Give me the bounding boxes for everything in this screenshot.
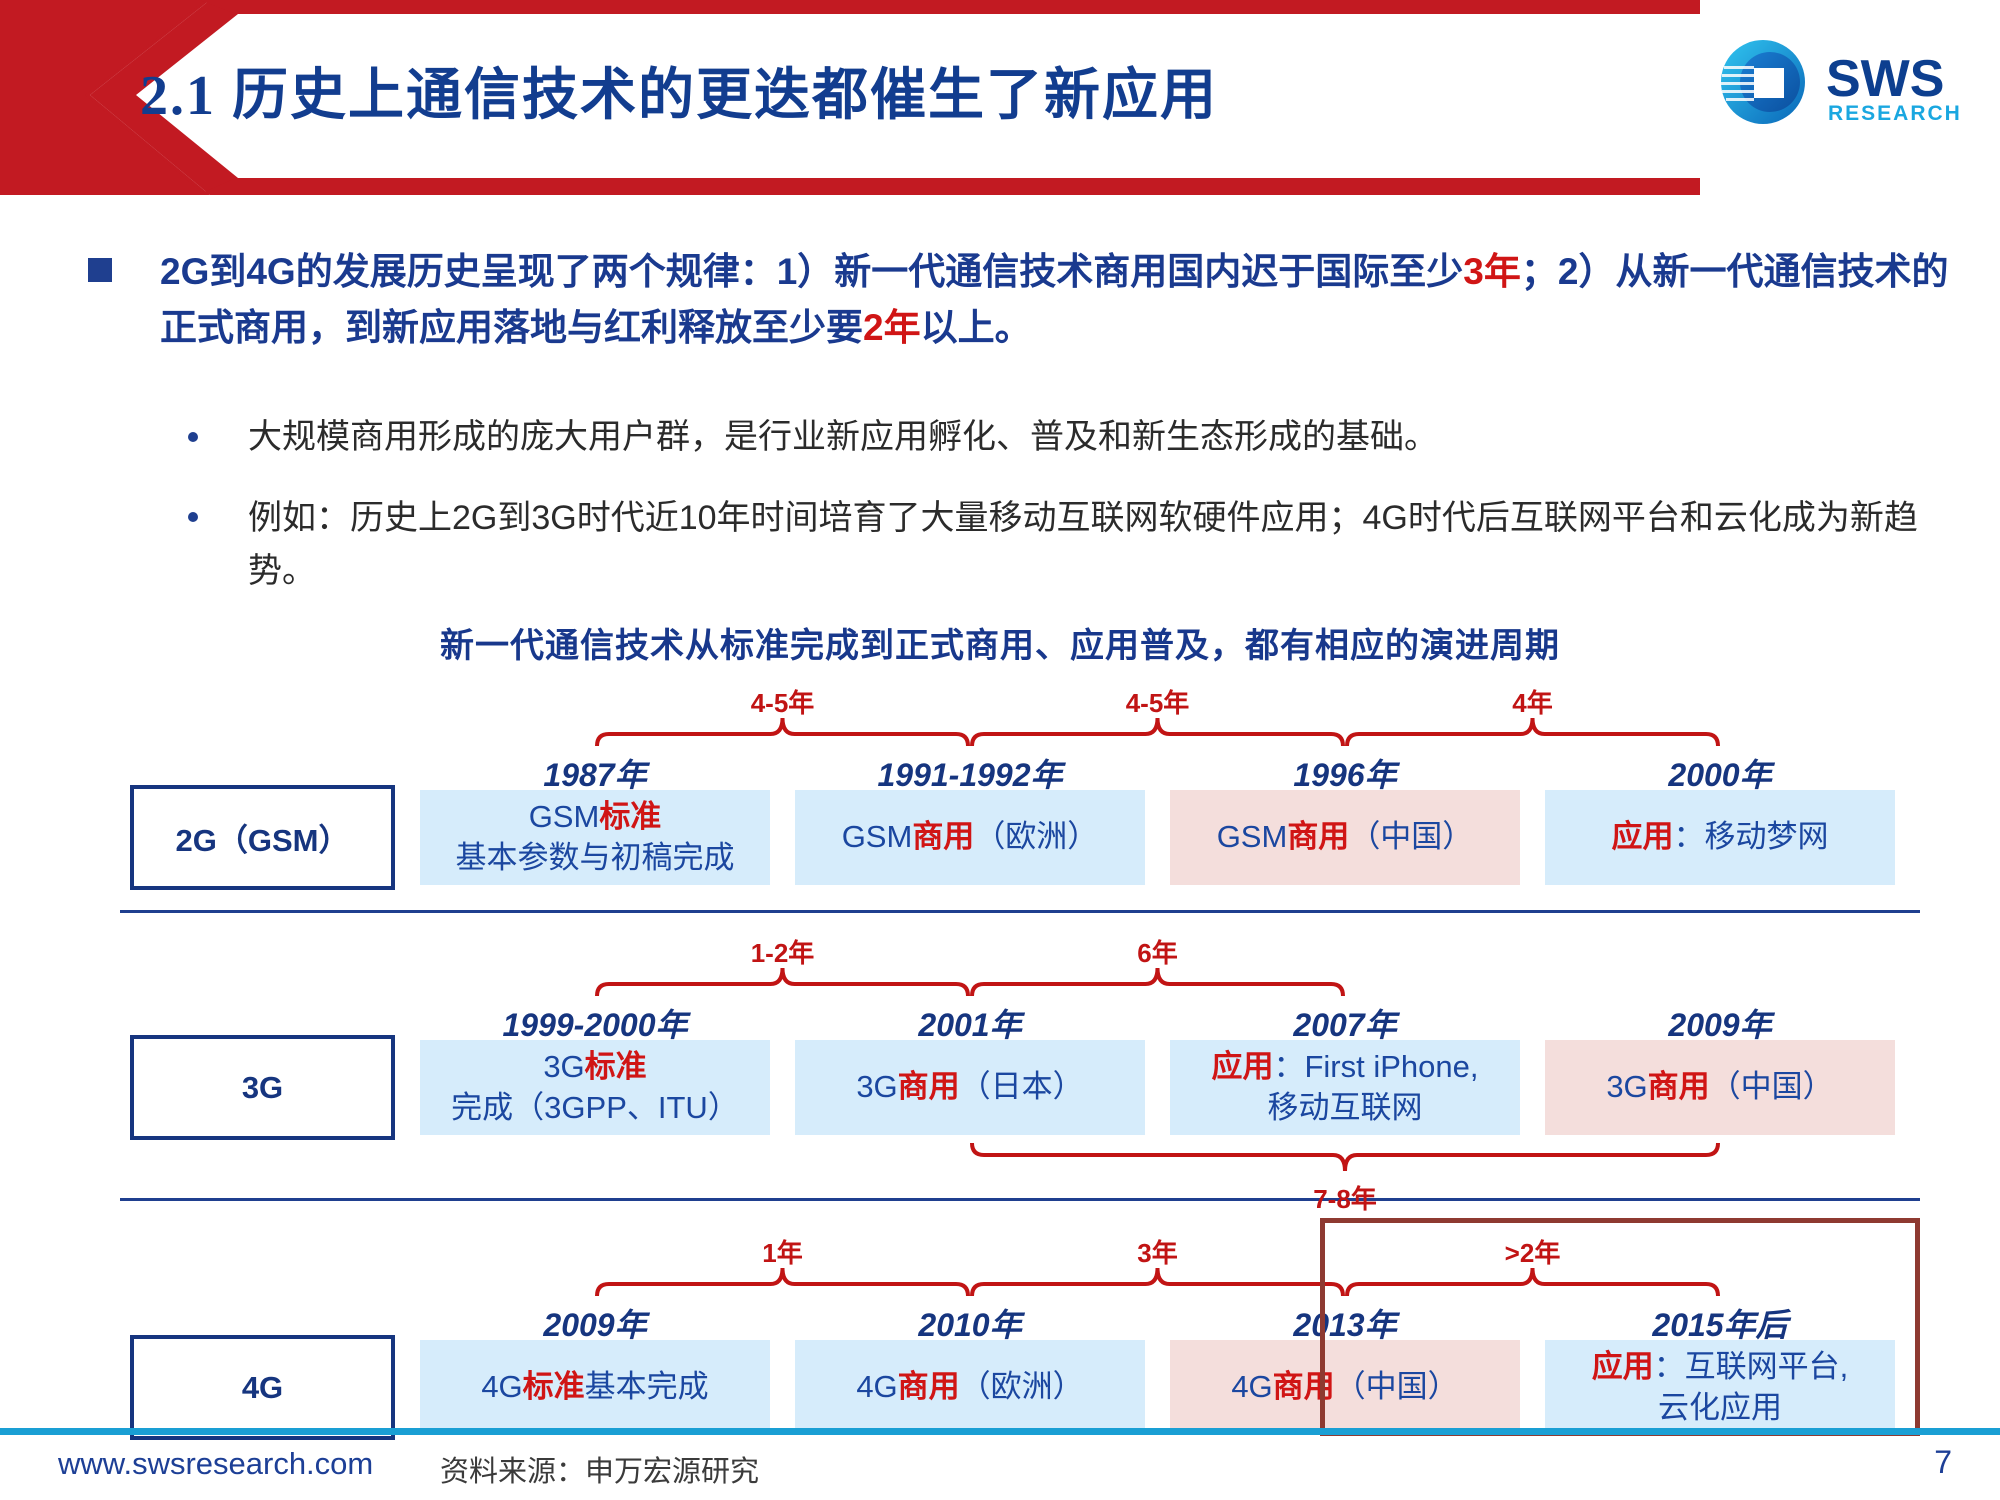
generation-box-2GGSM: 2G（GSM） (130, 785, 395, 890)
brace-connector (970, 716, 1345, 751)
cell-text-highlight: 标准 (523, 1369, 585, 1404)
cell-text-post: （欧洲） (974, 819, 1098, 854)
main-bullet-text: 2G到4G的发展历史呈现了两个规律：1）新一代通信技术商用国内迟于国际至少3年；… (160, 244, 1950, 356)
cell-text-highlight: 商用 (898, 1069, 960, 1104)
timeline-cell: GSM商用（中国） (1170, 790, 1520, 885)
timeline-cell: 4G标准基本完成 (420, 1340, 770, 1435)
timeline-cell: 3G商用（中国） (1545, 1040, 1895, 1135)
cell-text-post: ：移动梦网 (1674, 819, 1829, 854)
cell-text-highlight: 商用 (1287, 819, 1349, 854)
timeline-cell: GSM标准基本参数与初稿完成 (420, 790, 770, 885)
diagram-title: 新一代通信技术从标准完成到正式商用、应用普及，都有相应的演进周期 (0, 618, 2000, 667)
sub-bullet-dot-1 (188, 432, 198, 442)
cell-text-pre: GSM (842, 819, 913, 854)
brace-duration-label: 1-2年 (595, 933, 970, 970)
brace-duration-label: 4-5年 (970, 683, 1345, 720)
sws-research-logo: SWS RESEARCH (1718, 36, 1962, 128)
footer-url[interactable]: www.swsresearch.com (58, 1446, 373, 1482)
generation-box-4G: 4G (130, 1335, 395, 1440)
timeline-cell: GSM商用（欧洲） (795, 790, 1145, 885)
cell-text-line2: 完成（3GPP、ITU） (451, 1090, 739, 1125)
cell-text-pre: 4G (856, 1369, 897, 1404)
brace-connector (595, 716, 970, 751)
main-bullet-red-1: 3年 (1463, 251, 1521, 292)
bullet-marker-square (88, 258, 112, 282)
page-title: 2.1 历史上通信技术的更迭都催生了新应用 (140, 50, 1640, 131)
cell-text-pre: GSM (529, 799, 600, 834)
cell-content: 应用：移动梦网 (1612, 817, 1829, 858)
cell-content: GSM商用（欧洲） (842, 817, 1099, 858)
cell-text-post: 基本完成 (585, 1369, 709, 1404)
brace-connector (1345, 716, 1720, 751)
svg-text:SWS: SWS (1826, 50, 1944, 108)
page-number: 7 (1934, 1444, 1952, 1481)
cell-text-pre: 3G (856, 1069, 897, 1104)
cell-content: 4G标准基本完成 (481, 1367, 708, 1408)
brace-connector (595, 966, 970, 1001)
timeline-cell: 应用：移动梦网 (1545, 790, 1895, 885)
main-bullet-pre: 2G到4G的发展历史呈现了两个规律：1）新一代通信技术商用国内迟于国际至少 (160, 251, 1463, 292)
cell-text-post: ：First iPhone, (1273, 1049, 1478, 1084)
cell-content: GSM标准基本参数与初稿完成 (456, 797, 735, 879)
cell-text-highlight: 标准 (585, 1049, 647, 1084)
brace-duration-label: 1年 (595, 1233, 970, 1270)
cell-text-post: （中国） (1710, 1069, 1834, 1104)
footer-rule (0, 1428, 2000, 1435)
cell-text-highlight: 应用 (1612, 819, 1674, 854)
cell-content: 3G商用（中国） (1606, 1067, 1833, 1108)
cell-content: 4G商用（欧洲） (856, 1367, 1083, 1408)
brace-connector (970, 1266, 1345, 1301)
cell-text-highlight: 商用 (912, 819, 974, 854)
cell-text-post: （欧洲） (960, 1369, 1084, 1404)
cell-text-post: （中国） (1349, 819, 1473, 854)
cell-text-highlight: 应用 (1211, 1049, 1273, 1084)
brace-connector (970, 966, 1345, 1001)
footer-source: 资料来源：申万宏源研究 (440, 1448, 759, 1490)
bottom-brace-connector (970, 1143, 1720, 1178)
row-separator (120, 910, 1920, 913)
cell-content: GSM商用（中国） (1217, 817, 1474, 858)
slide: 2.1 历史上通信技术的更迭都催生了新应用 SWS RESEARCH 2G到4G… (0, 0, 2000, 1500)
brace-duration-label: 6年 (970, 933, 1345, 970)
bottom-brace-duration-label: 7-8年 (970, 1179, 1720, 1216)
cell-content: 3G商用（日本） (856, 1067, 1083, 1108)
cell-text-highlight: 商用 (898, 1369, 960, 1404)
cell-content: 应用：First iPhone,移动互联网 (1211, 1047, 1478, 1129)
brace-connector (595, 1266, 970, 1301)
cell-content: 3G标准完成（3GPP、ITU） (451, 1047, 739, 1129)
timeline-cell: 3G商用（日本） (795, 1040, 1145, 1135)
brace-duration-label: 3年 (970, 1233, 1345, 1270)
cell-text-pre: 3G (543, 1049, 584, 1084)
brace-duration-label: 4-5年 (595, 683, 970, 720)
cell-text-line2: 移动互联网 (1267, 1090, 1422, 1125)
main-bullet-red-2: 2年 (863, 307, 921, 348)
sub-bullet-1: 大规模商用形成的庞大用户群，是行业新应用孵化、普及和新生态形成的基础。 (248, 412, 1948, 463)
cell-text-pre: 4G (481, 1369, 522, 1404)
timeline-cell: 应用：First iPhone,移动互联网 (1170, 1040, 1520, 1135)
cell-text-line2: 基本参数与初稿完成 (456, 840, 735, 875)
timeline-cell: 4G商用（欧洲） (795, 1340, 1145, 1435)
sub-bullet-2: 例如：历史上2G到3G时代近10年时间培育了大量移动互联网软硬件应用；4G时代后… (248, 492, 1948, 597)
cell-text-post: （日本） (960, 1069, 1084, 1104)
timeline-cell: 3G标准完成（3GPP、ITU） (420, 1040, 770, 1135)
cell-text-pre: GSM (1217, 819, 1288, 854)
highlight-callout-box (1320, 1218, 1920, 1436)
cell-text-pre: 3G (1606, 1069, 1647, 1104)
brace-duration-label: 4年 (1345, 683, 1720, 720)
svg-text:RESEARCH: RESEARCH (1828, 102, 1962, 125)
sub-bullet-dot-2 (188, 512, 198, 522)
generation-box-3G: 3G (130, 1035, 395, 1140)
cell-text-pre: 4G (1231, 1369, 1272, 1404)
cell-text-highlight: 标准 (599, 799, 661, 834)
main-bullet-post: 以上。 (921, 307, 1032, 348)
cell-text-highlight: 商用 (1648, 1069, 1710, 1104)
